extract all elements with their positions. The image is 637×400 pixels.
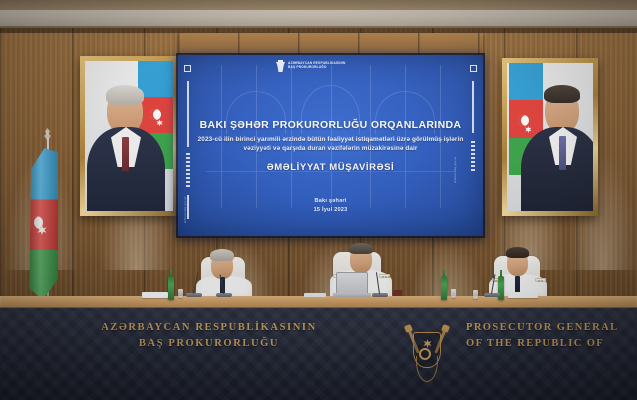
podium-text-right-line1: PROSECUTOR GENERAL — [466, 320, 637, 336]
participant-center-epaulette-right — [379, 274, 390, 278]
conference-hall-photo: prokurorluq.gov.az prokurorluq.gov.az AZ… — [0, 0, 637, 400]
laptop-base — [333, 293, 371, 297]
slide-kicker: ƏMƏLİYYAT MÜŞAVİRƏSİ — [178, 162, 483, 173]
slide-place-and-date: Bakı şəhəri 15 İyul 2023 — [178, 197, 483, 214]
portrait-hair — [106, 85, 144, 105]
presentation-screen: prokurorluq.gov.az prokurorluq.gov.az AZ… — [178, 55, 483, 236]
podium-text-right: PROSECUTOR GENERAL OF THE REPUBLIC OF — [466, 320, 637, 353]
slide-corner-mark — [184, 65, 191, 72]
prosecutor-shield-emblem-icon — [276, 60, 285, 72]
screen-bulkhead — [178, 33, 483, 55]
slide-date: 15 İyul 2023 — [178, 206, 483, 214]
participant-left-hair — [210, 249, 234, 261]
portrait-necktie — [559, 136, 566, 170]
ceiling-soffit — [0, 0, 637, 10]
podium-text-left: AZƏRBAYCAN RESPUBLİKASININ BAŞ PROKURORL… — [84, 320, 334, 353]
document-folder — [508, 292, 538, 298]
participant-center-hair — [349, 243, 373, 254]
wreath-icon — [416, 356, 438, 382]
participant-right-hair — [506, 247, 529, 258]
laptop-lid — [336, 272, 368, 294]
podium-text-left-line2: BAŞ PROKURORLUĞU — [84, 336, 334, 352]
podium-text-left-line1: AZƏRBAYCAN RESPUBLİKASININ — [84, 320, 334, 336]
drinking-glass — [473, 290, 478, 299]
podium-text-right-line2: OF THE REPUBLIC OF — [466, 336, 637, 352]
document-folder — [142, 292, 168, 298]
desk-stamp-box — [393, 290, 402, 296]
slide-logo-line2: BAŞ PROKURORLUĞU — [288, 66, 346, 70]
water-bottle — [441, 276, 447, 300]
slide-subtitle: 2023-cü ilin birinci yarımili ərzində bü… — [194, 135, 467, 153]
drinking-glass — [451, 289, 456, 298]
slide-logo: AZƏRBAYCAN RESPUBLİKASININ BAŞ PROKURORL… — [276, 60, 346, 72]
water-bottle — [168, 276, 174, 300]
drinking-glass — [178, 289, 183, 298]
portrait-ilham-aliyev — [502, 58, 598, 216]
slide-rule-left — [187, 81, 189, 147]
document-folder — [304, 293, 326, 297]
portrait-necktie — [122, 137, 129, 171]
portrait-hair — [544, 85, 580, 103]
slide-title: BAKI ŞƏHƏR PROKURORLUĞU ORQANLARINDA — [178, 119, 483, 131]
portrait-heydar-aliyev — [80, 56, 178, 216]
slide-corner-mark — [470, 65, 477, 72]
participant-right-epaulette-right — [535, 278, 546, 282]
prosecutor-general-emblem — [404, 322, 450, 384]
slide-place: Bakı şəhəri — [178, 197, 483, 205]
